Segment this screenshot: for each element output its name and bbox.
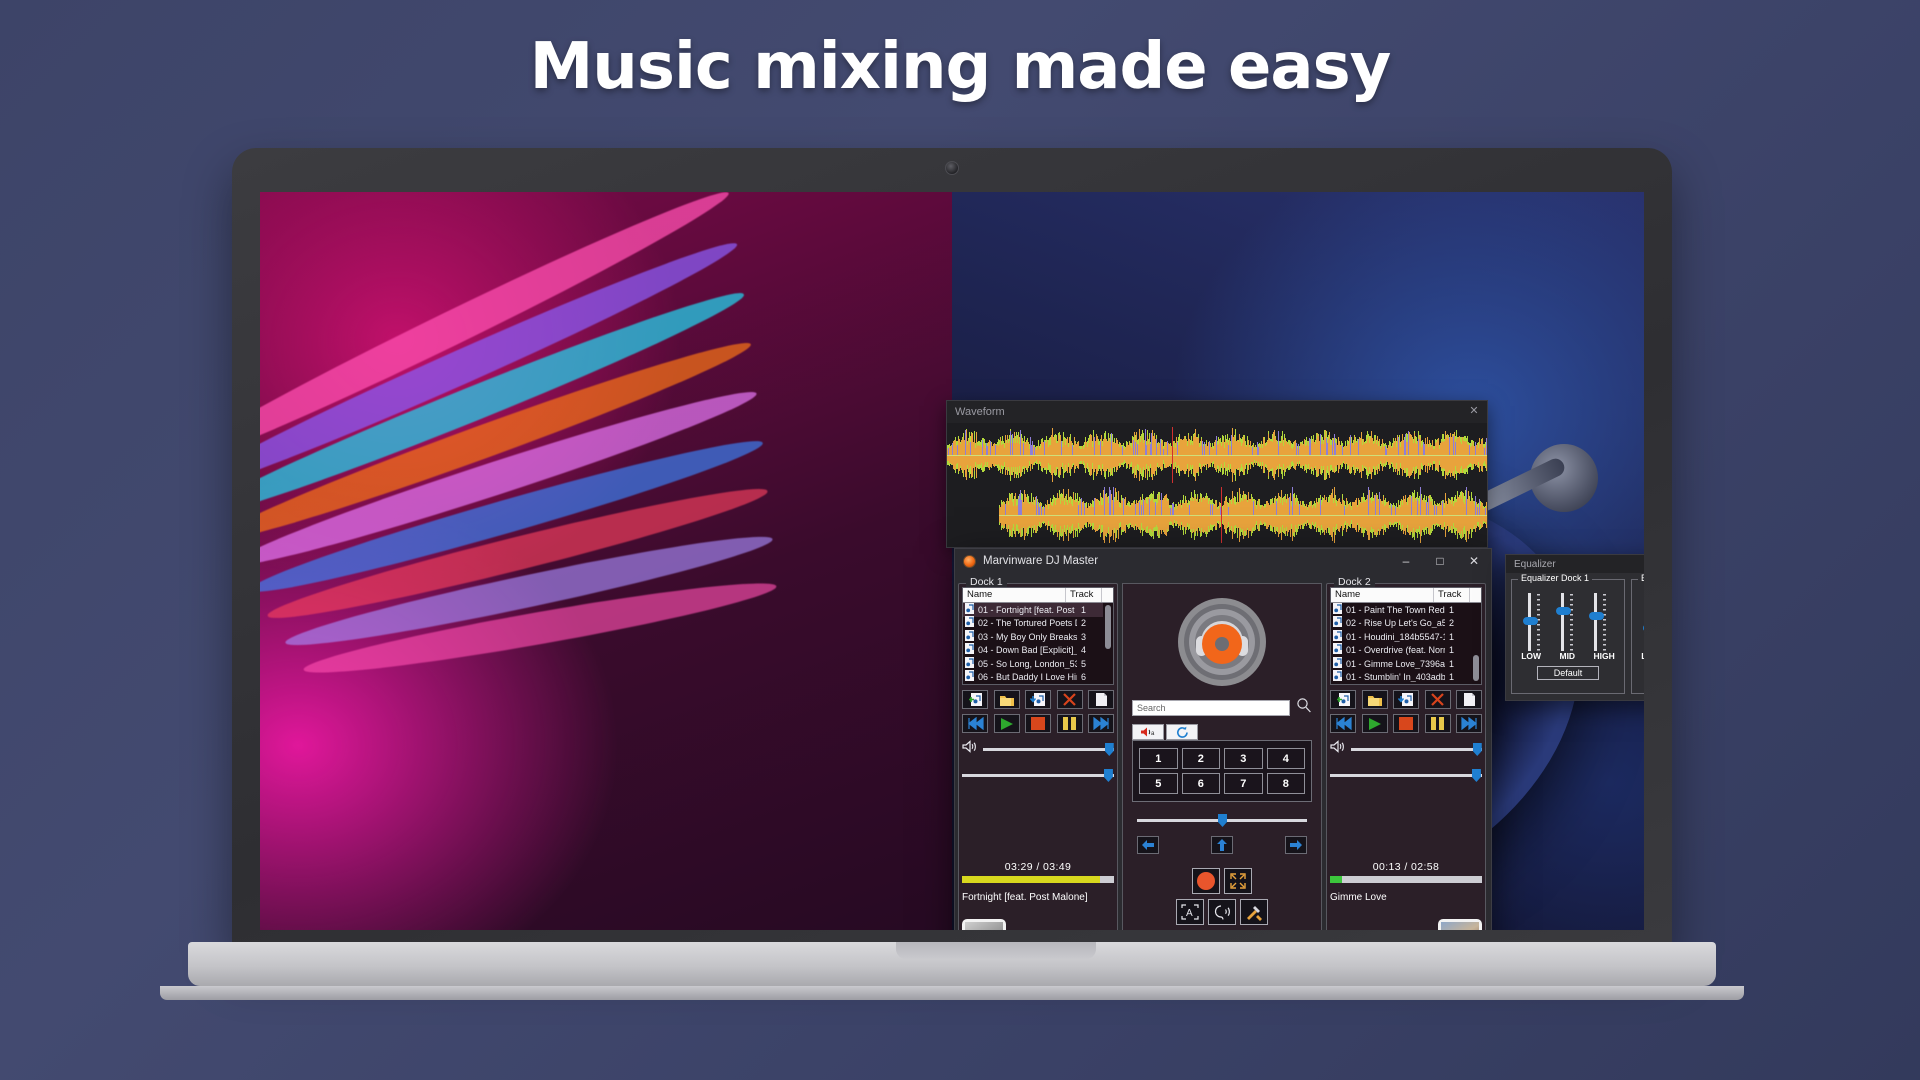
music-note-icon bbox=[1331, 668, 1346, 685]
column-header-name[interactable]: Name bbox=[1331, 588, 1434, 602]
dock-2-volume-slider[interactable] bbox=[1351, 743, 1482, 755]
minimize-button[interactable]: – bbox=[1389, 549, 1423, 573]
dock-1-album-art[interactable] bbox=[962, 919, 1006, 930]
equalizer-group-legend: Equalizer Dock 1 bbox=[1518, 573, 1592, 583]
speaker-icon bbox=[1330, 740, 1346, 758]
equalizer-title-text: Equalizer bbox=[1514, 559, 1556, 570]
dock-1-time-display: 03:29 / 03:49 bbox=[962, 861, 1114, 873]
pause-icon[interactable] bbox=[1425, 714, 1451, 733]
table-row[interactable]: 01 - Paint The Town Red [Ex...1 bbox=[1331, 603, 1481, 617]
previous-icon[interactable] bbox=[1330, 714, 1356, 733]
laptop-notch bbox=[896, 942, 1096, 959]
fullscreen-icon[interactable] bbox=[1224, 868, 1252, 894]
dock-2-file-buttons bbox=[1330, 690, 1482, 709]
dock-1-file-buttons bbox=[962, 690, 1114, 709]
dock-1-volume-slider[interactable] bbox=[983, 743, 1114, 755]
play-icon[interactable] bbox=[1362, 714, 1388, 733]
dock-1-now-playing: Fortnight [feat. Post Malone] bbox=[962, 892, 1114, 903]
app-title-text: Marvinware DJ Master bbox=[983, 555, 1098, 567]
next-icon[interactable] bbox=[1456, 714, 1482, 733]
stop-icon[interactable] bbox=[1025, 714, 1051, 733]
hotcue-pad-grid: 12345678 bbox=[1139, 748, 1305, 794]
equalizer-window[interactable]: Equalizer ✕ Equalizer Dock 1LOWMIDHIGHDe… bbox=[1505, 554, 1644, 701]
pitch-thumb[interactable] bbox=[1104, 769, 1113, 782]
app-orange-circle-icon bbox=[963, 555, 976, 568]
dock-1-scroll-thumb[interactable] bbox=[1105, 605, 1111, 649]
eq-slider-mid[interactable] bbox=[1557, 593, 1579, 651]
waveform-lane-deck1 bbox=[947, 427, 1487, 483]
waveform-centerline bbox=[999, 515, 1487, 516]
tools-icon[interactable] bbox=[1240, 899, 1268, 925]
new-file-icon[interactable] bbox=[1456, 690, 1482, 709]
track-name: 03 - My Boy Only Breaks His ... bbox=[978, 632, 1077, 642]
dock-2-tracklist[interactable]: Name Track 01 - Paint The Town Red [Ex..… bbox=[1330, 587, 1482, 685]
volume-track bbox=[1351, 748, 1482, 751]
track-name: 01 - Fortnight [feat. Post Mal... bbox=[978, 605, 1077, 615]
table-row[interactable]: 01 - Stumblin' In_403adbac-f...1 bbox=[1331, 671, 1481, 685]
hotcue-pad-8[interactable]: 8 bbox=[1267, 773, 1306, 794]
table-row[interactable]: 02 - Rise Up Let's Go_a5be3...2 bbox=[1331, 617, 1481, 631]
waveform-title-bar: Waveform bbox=[947, 401, 1487, 423]
stop-icon[interactable] bbox=[1393, 714, 1419, 733]
waveform-centerline bbox=[947, 455, 1487, 456]
hotcue-pad-box: 12345678 bbox=[1132, 740, 1312, 802]
open-folder-icon[interactable] bbox=[994, 690, 1020, 709]
eq-slider-track bbox=[1561, 593, 1564, 651]
laptop-screen: Waveform ✕ Marvinware DJ Master – bbox=[260, 192, 1644, 930]
new-file-icon[interactable] bbox=[1088, 690, 1114, 709]
dock-1-scrollbar[interactable] bbox=[1103, 603, 1113, 685]
track-name: 01 - Stumblin' In_403adbac-f... bbox=[1346, 672, 1445, 682]
laptop-foot bbox=[160, 986, 1744, 1000]
close-button[interactable]: ✕ bbox=[1457, 549, 1491, 573]
dock-1-panel: Dock 1 Name Track 01 - Fortnight [feat. … bbox=[958, 583, 1118, 930]
hotcue-pad-1[interactable]: 1 bbox=[1139, 748, 1178, 769]
dock-1-progress-bar[interactable] bbox=[962, 876, 1114, 883]
volume-track bbox=[983, 748, 1114, 751]
open-folder-icon[interactable] bbox=[1362, 690, 1388, 709]
waveform-playhead[interactable] bbox=[1172, 427, 1173, 483]
laptop-camera-icon bbox=[945, 161, 959, 175]
track-name: 05 - So Long, London_53c8... bbox=[978, 659, 1077, 669]
center-record-buttons bbox=[1123, 868, 1321, 894]
hotcue-pad-2[interactable]: 2 bbox=[1182, 748, 1221, 769]
hotcue-pad-6[interactable]: 6 bbox=[1182, 773, 1221, 794]
table-row[interactable]: 04 - Down Bad [Explicit]_618...4 bbox=[963, 644, 1113, 658]
waveform-window[interactable]: Waveform ✕ bbox=[946, 400, 1488, 548]
pitch-thumb[interactable] bbox=[1472, 769, 1481, 782]
dock-2-album-art[interactable] bbox=[1438, 919, 1482, 930]
eq-slider-low[interactable] bbox=[1524, 593, 1546, 651]
search-input[interactable]: Search bbox=[1132, 700, 1290, 716]
refresh-tab-icon[interactable] bbox=[1166, 724, 1198, 740]
speaker-tab-icon[interactable]: a bbox=[1132, 724, 1164, 740]
eq-band-label: LOW bbox=[1641, 651, 1644, 661]
arrow-up-icon[interactable] bbox=[1211, 836, 1233, 854]
maximize-button[interactable]: □ bbox=[1423, 549, 1457, 573]
svg-text:A: A bbox=[1186, 908, 1193, 919]
eq-band-label: LOW bbox=[1521, 651, 1541, 661]
hotcue-pad-5[interactable]: 5 bbox=[1139, 773, 1178, 794]
center-tool-buttons: A bbox=[1123, 899, 1321, 925]
column-header-track[interactable]: Track bbox=[1434, 588, 1470, 602]
eq-slider-thumb[interactable] bbox=[1589, 612, 1604, 620]
text-overlay-icon[interactable]: A bbox=[1176, 899, 1204, 925]
equalizer-default-button[interactable]: Default bbox=[1537, 666, 1599, 680]
volume-thumb[interactable] bbox=[1473, 743, 1482, 756]
svg-text:a: a bbox=[1151, 731, 1155, 737]
main-window-body: Dock 1 Name Track 01 - Fortnight [feat. … bbox=[955, 573, 1491, 930]
center-nav-buttons bbox=[1123, 836, 1321, 854]
track-name: 02 - The Tortured Poets Dep... bbox=[978, 618, 1077, 628]
eq-slider-thumb[interactable] bbox=[1523, 617, 1538, 625]
crossfader-slider[interactable] bbox=[1137, 814, 1307, 826]
dock-2-volume-row bbox=[1330, 740, 1482, 758]
arrow-left-icon[interactable] bbox=[1137, 836, 1159, 854]
hotcue-pad-3[interactable]: 3 bbox=[1224, 748, 1263, 769]
column-header-name[interactable]: Name bbox=[963, 588, 1066, 602]
laptop-mockup: Waveform ✕ Marvinware DJ Master – bbox=[232, 148, 1672, 958]
headphones-jog-wheel-icon[interactable] bbox=[1176, 596, 1268, 688]
page-headline: Music mixing made easy bbox=[0, 30, 1920, 104]
pitch-track bbox=[1330, 774, 1482, 777]
main-title-bar[interactable]: Marvinware DJ Master – □ ✕ bbox=[955, 549, 1491, 573]
dock-2-progress-bar[interactable] bbox=[1330, 876, 1482, 883]
table-row[interactable]: 05 - So Long, London_53c8...5 bbox=[963, 657, 1113, 671]
pitch-track bbox=[962, 774, 1114, 777]
dock-2-panel: Dock 2 Name Track 01 - Paint The Town Re… bbox=[1326, 583, 1486, 930]
play-icon[interactable] bbox=[994, 714, 1020, 733]
track-name: 01 - Paint The Town Red [Ex... bbox=[1346, 605, 1445, 615]
dock-1-rows: 01 - Fortnight [feat. Post Mal...102 - T… bbox=[963, 603, 1113, 684]
column-header-track[interactable]: Track bbox=[1066, 588, 1102, 602]
pause-icon[interactable] bbox=[1057, 714, 1083, 733]
dock-2-artwork-row: 105 / 112 bbox=[1330, 911, 1482, 930]
magnifier-icon[interactable] bbox=[1296, 697, 1312, 718]
voice-over-icon[interactable] bbox=[1208, 899, 1236, 925]
next-icon[interactable] bbox=[1088, 714, 1114, 733]
track-name: 01 - Gimme Love_7396a250-... bbox=[1346, 659, 1445, 669]
dock-2-scrollbar[interactable] bbox=[1471, 603, 1481, 685]
dock-2-rows: 01 - Paint The Town Red [Ex...102 - Rise… bbox=[1331, 603, 1481, 684]
music-note-icon bbox=[963, 668, 978, 685]
waveform-close-button[interactable]: ✕ bbox=[1467, 404, 1481, 418]
waveform-lane-deck2 bbox=[999, 487, 1487, 543]
dock-2-tracklist-header: Name Track bbox=[1331, 588, 1481, 603]
record-icon[interactable] bbox=[1192, 868, 1220, 894]
track-name: 01 - Overdrive (feat. Norma J... bbox=[1346, 645, 1445, 655]
equalizer-group-1: Equalizer Dock 1LOWMIDHIGHDefault bbox=[1511, 579, 1625, 694]
add-track-icon[interactable] bbox=[962, 690, 988, 709]
eq-slider-ticks bbox=[1570, 594, 1573, 652]
dock-2-scroll-thumb[interactable] bbox=[1473, 655, 1479, 681]
equalizer-body: Equalizer Dock 1LOWMIDHIGHDefaultEqualiz… bbox=[1506, 573, 1644, 700]
delete-track-icon[interactable] bbox=[1425, 690, 1451, 709]
table-row[interactable]: 06 - But Daddy I Love Him [...6 bbox=[963, 671, 1113, 685]
add-track-icon[interactable] bbox=[1330, 690, 1356, 709]
waveform-playhead[interactable] bbox=[1221, 487, 1222, 543]
dock-1-progress-fill bbox=[962, 876, 1100, 883]
previous-icon[interactable] bbox=[962, 714, 988, 733]
dock-2-time-display: 00:13 / 02:58 bbox=[1330, 861, 1482, 873]
center-tabs: a bbox=[1132, 724, 1321, 740]
eq-slider-high[interactable] bbox=[1590, 593, 1612, 651]
track-name: 01 - Houdini_184b5547-1b09... bbox=[1346, 632, 1445, 642]
column-header-pad bbox=[1102, 588, 1113, 602]
track-name: 04 - Down Bad [Explicit]_618... bbox=[978, 645, 1077, 655]
dock-1-transport-buttons bbox=[962, 714, 1114, 733]
eq-band-label: HIGH bbox=[1594, 651, 1615, 661]
crossfader-row bbox=[1123, 814, 1321, 826]
eq-slider-thumb[interactable] bbox=[1556, 607, 1571, 615]
dock-1-tracklist[interactable]: Name Track 01 - Fortnight [feat. Post Ma… bbox=[962, 587, 1114, 685]
waveform-title-text: Waveform bbox=[955, 406, 1005, 418]
equalizer-group-legend: Equalizer Dock 2 bbox=[1638, 573, 1644, 583]
window-control-buttons: – □ ✕ bbox=[1389, 549, 1491, 573]
crossfader-thumb[interactable] bbox=[1218, 814, 1227, 827]
equalizer-group-2: Equalizer Dock 2LOWMIDHIGHDefault bbox=[1631, 579, 1644, 694]
hotcue-pad-7[interactable]: 7 bbox=[1224, 773, 1263, 794]
dock-1-volume-row bbox=[962, 740, 1114, 758]
table-row[interactable]: 03 - My Boy Only Breaks His ...3 bbox=[963, 630, 1113, 644]
dock-1-artwork-row: 1 / 16 bbox=[962, 911, 1114, 930]
dock-1-tracklist-header: Name Track bbox=[963, 588, 1113, 603]
dock-2-pitch-slider[interactable] bbox=[1330, 769, 1482, 857]
main-application-window[interactable]: Marvinware DJ Master – □ ✕ Dock 1 Name bbox=[954, 548, 1492, 930]
hotcue-pad-4[interactable]: 4 bbox=[1267, 748, 1306, 769]
dock-2-progress-fill bbox=[1330, 876, 1342, 883]
eq-slider-ticks bbox=[1603, 594, 1606, 652]
equalizer-title-bar: Equalizer bbox=[1506, 555, 1644, 573]
dock-2-now-playing: Gimme Love bbox=[1330, 892, 1482, 903]
search-row: Search bbox=[1123, 697, 1321, 718]
dock-2-transport-buttons bbox=[1330, 714, 1482, 733]
center-mixer-panel: Search a 12345678 bbox=[1122, 583, 1322, 930]
table-row[interactable]: 01 - Fortnight [feat. Post Mal...1 bbox=[963, 603, 1113, 617]
table-row[interactable]: 01 - Overdrive (feat. Norma J...1 bbox=[1331, 644, 1481, 658]
track-name: 06 - But Daddy I Love Him [... bbox=[978, 672, 1077, 682]
table-row[interactable]: 01 - Gimme Love_7396a250-...1 bbox=[1331, 657, 1481, 671]
waveform-canvas[interactable] bbox=[947, 423, 1487, 547]
arrow-right-icon[interactable] bbox=[1285, 836, 1307, 854]
column-header-pad bbox=[1470, 588, 1481, 602]
track-name: 02 - Rise Up Let's Go_a5be3... bbox=[1346, 618, 1445, 628]
table-row[interactable]: 02 - The Tortured Poets Dep...2 bbox=[963, 617, 1113, 631]
import-track-icon[interactable] bbox=[1025, 690, 1051, 709]
import-track-icon[interactable] bbox=[1393, 690, 1419, 709]
delete-track-icon[interactable] bbox=[1057, 690, 1083, 709]
dock-1-pitch-slider[interactable] bbox=[962, 769, 1114, 857]
table-row[interactable]: 01 - Houdini_184b5547-1b09...1 bbox=[1331, 630, 1481, 644]
eq-slider-track bbox=[1594, 593, 1597, 651]
eq-slider-thumb[interactable] bbox=[1643, 624, 1644, 632]
speaker-icon bbox=[962, 740, 978, 758]
volume-thumb[interactable] bbox=[1105, 743, 1114, 756]
eq-band-label: MID bbox=[1559, 651, 1575, 661]
